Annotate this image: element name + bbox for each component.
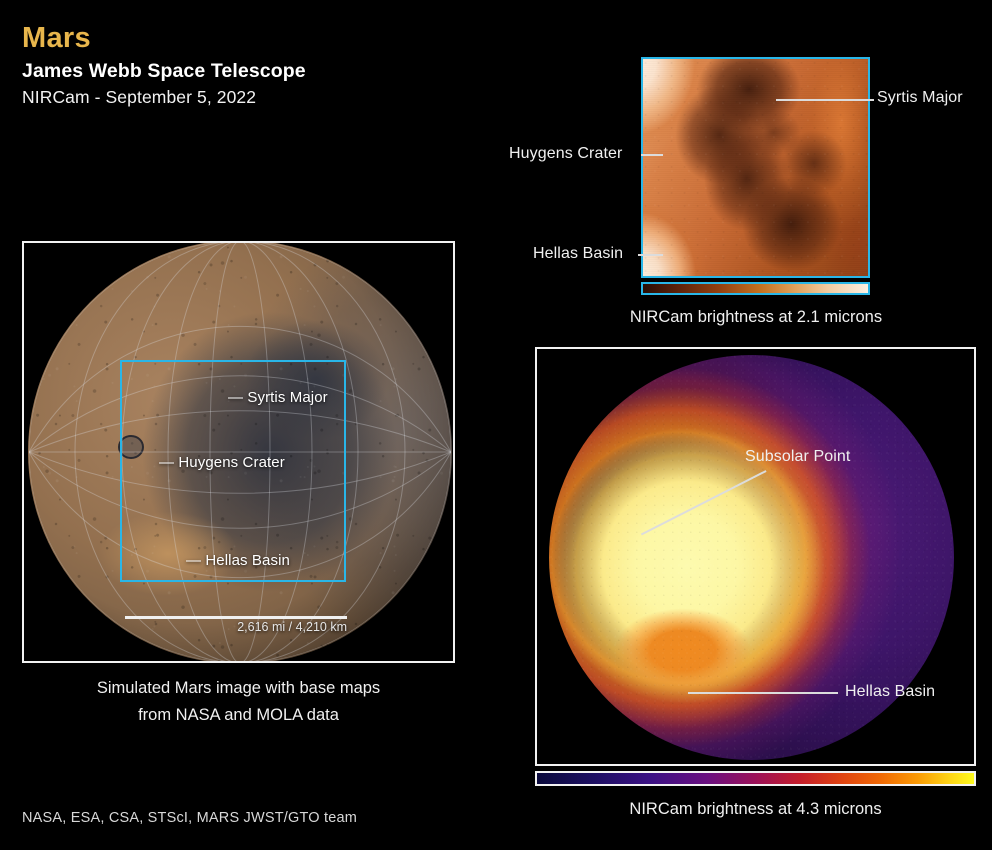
caption-21-micron: NIRCam brightness at 2.1 microns bbox=[570, 308, 942, 327]
header-block: Mars James Webb Space Telescope NIRCam -… bbox=[22, 24, 306, 106]
scale-bar-label: 2,616 mi / 4,210 km bbox=[125, 620, 347, 634]
leader-line-hellas-basin-43 bbox=[688, 692, 838, 694]
label-subsolar-point-43: Subsolar Point bbox=[745, 448, 850, 466]
simulated-mars-panel: — Syrtis Major — Huygens Crater — Hellas… bbox=[22, 241, 455, 663]
colorbar-43-micron bbox=[535, 771, 976, 786]
credit-line: NASA, ESA, CSA, STScI, MARS JWST/GTO tea… bbox=[22, 810, 357, 826]
label-hellas-basin-left: — Hellas Basin bbox=[186, 552, 290, 569]
instrument-date-subtitle: NIRCam - September 5, 2022 bbox=[22, 89, 306, 107]
label-syrtis-major-left: — Syrtis Major bbox=[228, 389, 328, 406]
page-title: Mars bbox=[22, 24, 306, 53]
nircam-21-micron-panel bbox=[641, 57, 870, 278]
label-huygens-crater-21: Huygens Crater bbox=[509, 145, 622, 163]
detector-noise-texture bbox=[643, 59, 868, 276]
colorbar-21-micron bbox=[641, 282, 870, 295]
nircam-43-micron-panel bbox=[535, 347, 976, 766]
caption-line-2: from NASA and MOLA data bbox=[22, 702, 455, 729]
label-huygens-crater-left: — Huygens Crater bbox=[159, 454, 285, 471]
leader-line-huygens-crater-21 bbox=[641, 154, 663, 156]
simulated-mars-caption: Simulated Mars image with base maps from… bbox=[22, 675, 455, 728]
leader-line-syrtis-major-21 bbox=[776, 99, 874, 101]
label-hellas-basin-43: Hellas Basin bbox=[845, 683, 935, 701]
nircam-21-micron-image bbox=[643, 59, 868, 276]
caption-line-1: Simulated Mars image with base maps bbox=[22, 675, 455, 702]
label-syrtis-major-21: Syrtis Major bbox=[877, 89, 963, 107]
caption-43-micron: NIRCam brightness at 4.3 microns bbox=[535, 800, 976, 819]
label-hellas-basin-21: Hellas Basin bbox=[533, 245, 623, 263]
leader-line-hellas-basin-21 bbox=[638, 254, 663, 256]
scale-bar-line bbox=[125, 616, 347, 619]
telescope-subtitle: James Webb Space Telescope bbox=[22, 62, 306, 82]
